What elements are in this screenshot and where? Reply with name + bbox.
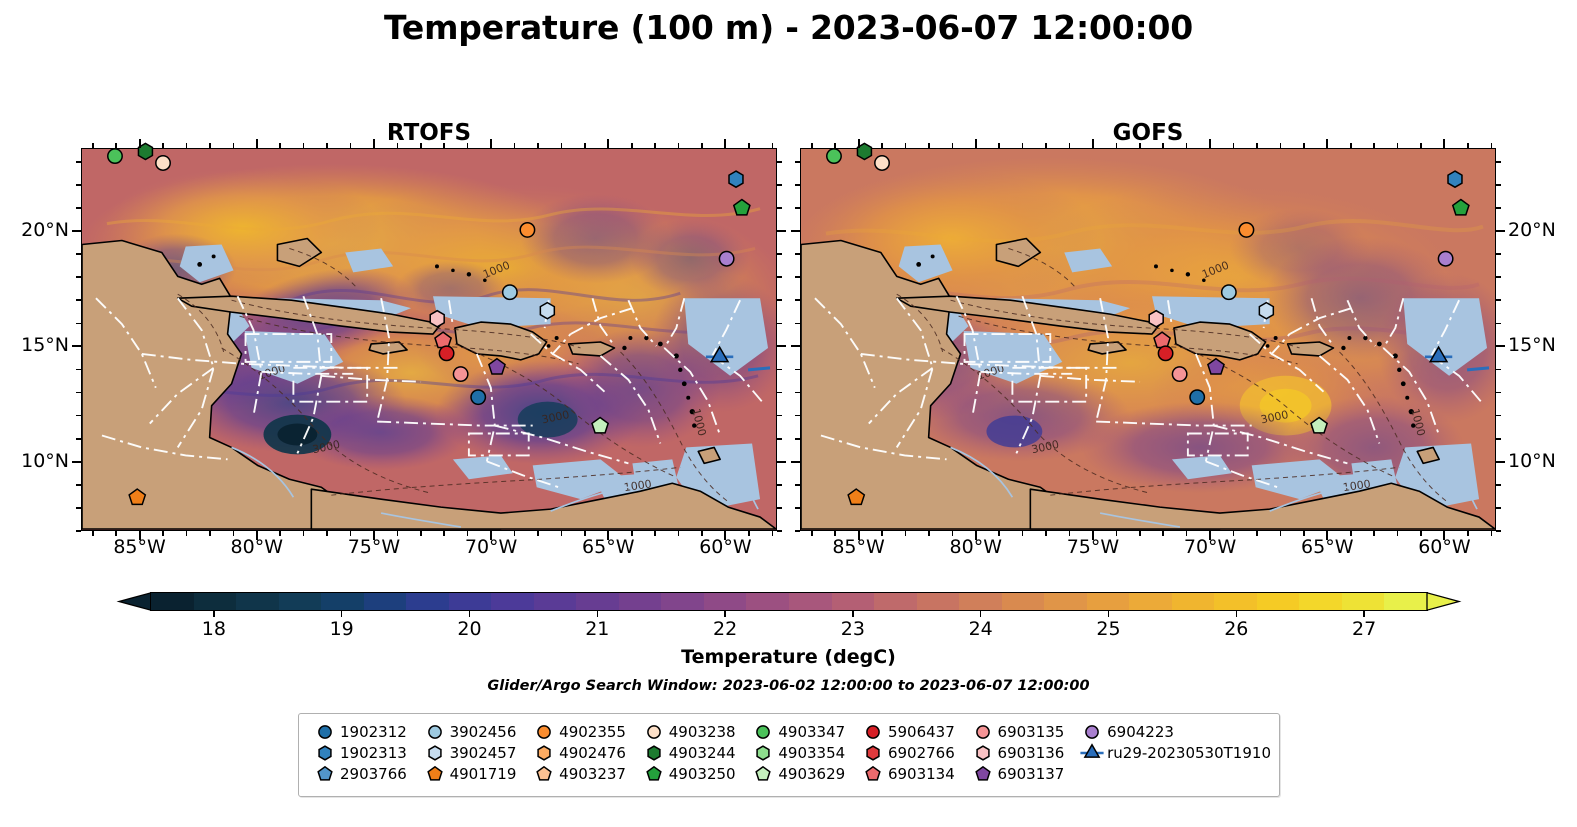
x-major-tick (975, 139, 977, 148)
legend-item-label: ru29-20230530T1910 (1107, 744, 1271, 762)
legend-item-label: 6903134 (888, 765, 955, 783)
y-minor-tick (1496, 253, 1501, 255)
x-minor-tick (1397, 531, 1399, 536)
colorbar-segment (1384, 593, 1427, 610)
colorbar-segment (1342, 593, 1385, 610)
legend-item-label: 6903135 (998, 723, 1065, 741)
legend-item[interactable]: 6903136 (965, 742, 1075, 763)
y-minor-tick (1496, 438, 1501, 440)
legend-marker-triangle-icon (1080, 744, 1100, 762)
colorbar-segment (364, 593, 407, 610)
legend-item-label: 4902355 (559, 723, 626, 741)
x-minor-tick (952, 143, 954, 148)
x-minor-tick (1022, 531, 1024, 536)
colorbar-segment (576, 593, 619, 610)
legend-marker-hexagon-icon (642, 744, 662, 762)
colorbar-gradient (150, 592, 1428, 611)
search-window-caption: Glider/Argo Search Window: 2023-06-02 12… (0, 678, 1577, 694)
y-tick-label: 20°N (0, 219, 69, 241)
colorbar-segment (1172, 593, 1215, 610)
x-minor-tick (1045, 143, 1047, 148)
x-minor-tick (881, 143, 883, 148)
legend-item-label: 4903250 (669, 765, 736, 783)
x-tick-label: 80°W (212, 536, 302, 558)
legend-grid: 1902312190231329037663902456390245749017… (299, 721, 1279, 784)
marker-1902312 (319, 725, 331, 737)
colorbar-segment (1129, 593, 1172, 610)
colorbar-extend-low (119, 592, 151, 611)
legend-item[interactable]: 6903134 (855, 763, 965, 784)
legend-item[interactable]: 4903347 (745, 721, 855, 742)
legend-item-label: 4903347 (778, 723, 845, 741)
x-minor-tick (834, 143, 836, 148)
legend-marker-hexagon-icon (532, 744, 552, 762)
legend-item[interactable]: 6903137 (965, 763, 1075, 784)
legend-item[interactable]: 4903238 (636, 721, 746, 742)
colorbar-segment (534, 593, 577, 610)
x-major-tick (1326, 139, 1328, 148)
marker-4901719 (428, 766, 442, 779)
marker-4902476 (538, 746, 550, 760)
legend-item[interactable]: 1902312 (307, 721, 417, 742)
gofs-axis-ticks (0, 0, 1577, 827)
y-tick-label: 10°N (0, 450, 69, 472)
colorbar-segment (1299, 593, 1342, 610)
colorbar-tick (1236, 611, 1238, 617)
colorbar-tick-label: 26 (1201, 618, 1271, 640)
legend-item[interactable]: 1902313 (307, 742, 417, 763)
legend-item[interactable]: 4902355 (526, 721, 636, 742)
y-tick-label: 20°N (1508, 219, 1577, 241)
legend-item[interactable]: 4903354 (745, 742, 855, 763)
colorbar-tick-label: 25 (1074, 618, 1144, 640)
x-tick-label: 65°W (1282, 536, 1372, 558)
y-minor-tick (1496, 299, 1501, 301)
marker-4903237 (537, 766, 551, 779)
legend-item-label: 6902766 (888, 744, 955, 762)
colorbar-tick-label: 19 (307, 618, 377, 640)
colorbar-segment (194, 593, 237, 610)
x-minor-tick (1186, 143, 1188, 148)
y-major-tick (1496, 345, 1505, 347)
colorbar-segment (1087, 593, 1130, 610)
marker-6904223 (1086, 725, 1098, 737)
colorbar-tick (597, 611, 599, 617)
y-minor-tick (1496, 415, 1501, 417)
marker-4903250 (647, 766, 661, 779)
colorbar-segment (1257, 593, 1300, 610)
legend-marker-hexagon-icon (751, 744, 771, 762)
y-minor-tick (795, 276, 800, 278)
legend-item[interactable]: 3902456 (417, 721, 527, 742)
colorbar-segment (917, 593, 960, 610)
marker-4903347 (757, 725, 769, 737)
y-minor-tick (795, 253, 800, 255)
colorbar-segment (661, 593, 704, 610)
legend-marker-circle-icon (642, 723, 662, 741)
y-major-tick (791, 345, 800, 347)
y-minor-tick (795, 207, 800, 209)
colorbar-tick (341, 611, 343, 617)
y-minor-tick (1496, 276, 1501, 278)
legend-marker-circle-icon (423, 723, 443, 741)
x-tick-label: 80°W (931, 536, 1021, 558)
colorbar-label: Temperature (degC) (0, 646, 1577, 668)
legend-marker-pentagon-icon (861, 765, 881, 783)
legend-marker-circle-icon (532, 723, 552, 741)
legend-item-label: 2903766 (340, 765, 407, 783)
colorbar-segment (1044, 593, 1087, 610)
colorbar-segment (406, 593, 449, 610)
x-minor-tick (928, 143, 930, 148)
y-minor-tick (1496, 484, 1501, 486)
legend-item[interactable]: 6903135 (965, 721, 1075, 742)
y-minor-tick (1496, 207, 1501, 209)
colorbar-extend-high (1427, 592, 1459, 611)
legend-item-label: 4901719 (450, 765, 517, 783)
colorbar-tick-label: 27 (1329, 618, 1399, 640)
y-tick-label: 10°N (1508, 450, 1577, 472)
x-minor-tick (1491, 143, 1493, 148)
legend-item[interactable]: ru29-20230530T1910 (1074, 742, 1271, 763)
legend-item-label: 4903629 (778, 765, 845, 783)
marker-4903629 (757, 766, 771, 779)
legend-item-label: 3902457 (450, 744, 517, 762)
y-minor-tick (795, 299, 800, 301)
legend-item[interactable]: 4901719 (417, 763, 527, 784)
colorbar-segment (151, 593, 194, 610)
marker-6903136 (977, 746, 989, 760)
legend-item-label: 6903137 (998, 765, 1065, 783)
colorbar-segment (959, 593, 1002, 610)
x-minor-tick (1350, 143, 1352, 148)
x-major-tick (1209, 139, 1211, 148)
colorbar-tick-label: 23 (818, 618, 888, 640)
marker-4903238 (648, 725, 660, 737)
x-minor-tick (1467, 143, 1469, 148)
colorbar-tick-label: 22 (690, 618, 760, 640)
legend-marker-circle-icon (861, 723, 881, 741)
colorbar-segment (704, 593, 747, 610)
x-minor-tick (998, 143, 1000, 148)
x-minor-tick (1233, 143, 1235, 148)
colorbar-tick-label: 21 (562, 618, 632, 640)
x-minor-tick (1373, 143, 1375, 148)
legend-item-label: 6904223 (1107, 723, 1174, 741)
y-minor-tick (1496, 161, 1501, 163)
legend-item[interactable]: 3902457 (417, 742, 527, 763)
legend-item-label: 1902312 (340, 723, 407, 741)
y-minor-tick (1496, 392, 1501, 394)
y-minor-tick (795, 438, 800, 440)
colorbar-tick (980, 611, 982, 617)
x-tick-label: 85°W (95, 536, 185, 558)
y-tick-label: 15°N (1508, 334, 1577, 356)
x-minor-tick (905, 531, 907, 536)
y-minor-tick (1496, 507, 1501, 509)
colorbar-tick (213, 611, 215, 617)
colorbar-segment (1002, 593, 1045, 610)
legend-marker-hexagon-icon (861, 744, 881, 762)
x-major-tick (1092, 139, 1094, 148)
y-minor-tick (1496, 184, 1501, 186)
legend-item[interactable]: 4903244 (636, 742, 746, 763)
x-minor-tick (1045, 531, 1047, 536)
x-minor-tick (1420, 143, 1422, 148)
x-minor-tick (1280, 143, 1282, 148)
legend-item[interactable]: 6902766 (855, 742, 965, 763)
x-tick-label: 60°W (680, 536, 770, 558)
marker-ru29-20230530T1910 (1081, 744, 1104, 756)
legend-item-label: 6903136 (998, 744, 1065, 762)
marker-6903134 (866, 766, 880, 779)
legend-marker-circle-icon (313, 723, 333, 741)
marker-4902355 (538, 725, 550, 737)
x-major-tick (858, 139, 860, 148)
x-major-tick (1443, 139, 1445, 148)
legend-item[interactable]: 2903766 (307, 763, 417, 784)
legend-item-label: 1902313 (340, 744, 407, 762)
x-minor-tick (1303, 143, 1305, 148)
y-minor-tick (795, 392, 800, 394)
marker-6903135 (976, 725, 988, 737)
marker-5906437 (867, 725, 879, 737)
legend-marker-hexagon-icon (971, 744, 991, 762)
colorbar-segment (491, 593, 534, 610)
colorbar-segment (874, 593, 917, 610)
legend-item-label: 4903354 (778, 744, 845, 762)
y-tick-label: 15°N (0, 334, 69, 356)
legend-marker-pentagon-icon (642, 765, 662, 783)
legend-marker-hexagon-icon (313, 744, 333, 762)
colorbar-tick-label: 18 (179, 618, 249, 640)
x-tick-label: 65°W (563, 536, 653, 558)
legend-item[interactable]: 4903237 (526, 763, 636, 784)
legend-marker-pentagon-icon (423, 765, 443, 783)
legend-marker-pentagon-icon (313, 765, 333, 783)
y-minor-tick (1496, 369, 1501, 371)
legend-item[interactable]: 6904223 (1074, 721, 1271, 742)
y-minor-tick (795, 161, 800, 163)
marker-4903244 (648, 746, 660, 760)
legend-item[interactable]: 4903250 (636, 763, 746, 784)
x-tick-label: 75°W (329, 536, 419, 558)
y-minor-tick (795, 369, 800, 371)
x-minor-tick (1256, 531, 1258, 536)
y-major-tick (1496, 461, 1505, 463)
legend-item-label: 3902456 (450, 723, 517, 741)
legend-marker-circle-icon (751, 723, 771, 741)
y-minor-tick (1496, 530, 1501, 532)
colorbar-segment (449, 593, 492, 610)
colorbar-segment (746, 593, 789, 610)
legend-item-label: 4903237 (559, 765, 626, 783)
colorbar-segment (236, 593, 279, 610)
colorbar-tick (724, 611, 726, 617)
marker-2903766 (318, 766, 332, 779)
marker-6903137 (976, 766, 990, 779)
x-minor-tick (1162, 143, 1164, 148)
x-minor-tick (1256, 143, 1258, 148)
x-minor-tick (1116, 143, 1118, 148)
marker-6902766 (867, 746, 879, 760)
colorbar-tick (1108, 611, 1110, 617)
colorbar-tick-label: 24 (946, 618, 1016, 640)
colorbar-tick (852, 611, 854, 617)
legend-item-label: 5906437 (888, 723, 955, 741)
colorbar-tick (1363, 611, 1365, 617)
legend-item[interactable]: 4903629 (745, 763, 855, 784)
marker-1902313 (319, 746, 331, 760)
x-minor-tick (1280, 531, 1282, 536)
x-minor-tick (1162, 531, 1164, 536)
legend-marker-pentagon-icon (751, 765, 771, 783)
y-minor-tick (795, 530, 800, 532)
x-minor-tick (1022, 143, 1024, 148)
colorbar-segment (619, 593, 662, 610)
x-minor-tick (1397, 143, 1399, 148)
legend-item-label: 4903238 (669, 723, 736, 741)
y-minor-tick (795, 184, 800, 186)
colorbar-segment (1214, 593, 1257, 610)
x-minor-tick (928, 531, 930, 536)
legend-marker-circle-icon (1080, 723, 1100, 741)
y-minor-tick (795, 507, 800, 509)
x-minor-tick (811, 531, 813, 536)
y-minor-tick (795, 415, 800, 417)
colorbar[interactable]: 18192021222324252627 (119, 592, 1459, 611)
y-minor-tick (795, 323, 800, 325)
x-tick-label: 85°W (814, 536, 904, 558)
platform-legend[interactable]: 1902312190231329037663902456390245749017… (298, 713, 1280, 797)
legend-marker-pentagon-icon (532, 765, 552, 783)
colorbar-tick-label: 20 (435, 618, 505, 640)
y-minor-tick (1496, 323, 1501, 325)
legend-item-label: 4902476 (559, 744, 626, 762)
x-tick-label: 70°W (446, 536, 536, 558)
y-major-tick (791, 461, 800, 463)
marker-3902457 (429, 746, 441, 760)
legend-marker-pentagon-icon (971, 765, 991, 783)
x-tick-label: 60°W (1399, 536, 1489, 558)
legend-marker-circle-icon (971, 723, 991, 741)
y-major-tick (791, 230, 800, 232)
colorbar-segment (832, 593, 875, 610)
colorbar-segment (279, 593, 322, 610)
legend-item[interactable]: 5906437 (855, 721, 965, 742)
x-minor-tick (1069, 143, 1071, 148)
x-minor-tick (1373, 531, 1375, 536)
y-minor-tick (795, 484, 800, 486)
colorbar-tick (469, 611, 471, 617)
x-minor-tick (905, 143, 907, 148)
marker-3902456 (428, 725, 440, 737)
legend-item-label: 4903244 (669, 744, 736, 762)
x-minor-tick (1491, 531, 1493, 536)
colorbar-segment (321, 593, 364, 610)
x-minor-tick (811, 143, 813, 148)
legend-item[interactable]: 4902476 (526, 742, 636, 763)
colorbar-segment (789, 593, 832, 610)
marker-4903354 (757, 746, 769, 760)
x-tick-label: 75°W (1048, 536, 1138, 558)
x-minor-tick (1139, 531, 1141, 536)
legend-marker-hexagon-icon (423, 744, 443, 762)
y-major-tick (1496, 230, 1505, 232)
x-tick-label: 70°W (1165, 536, 1255, 558)
x-minor-tick (1139, 143, 1141, 148)
